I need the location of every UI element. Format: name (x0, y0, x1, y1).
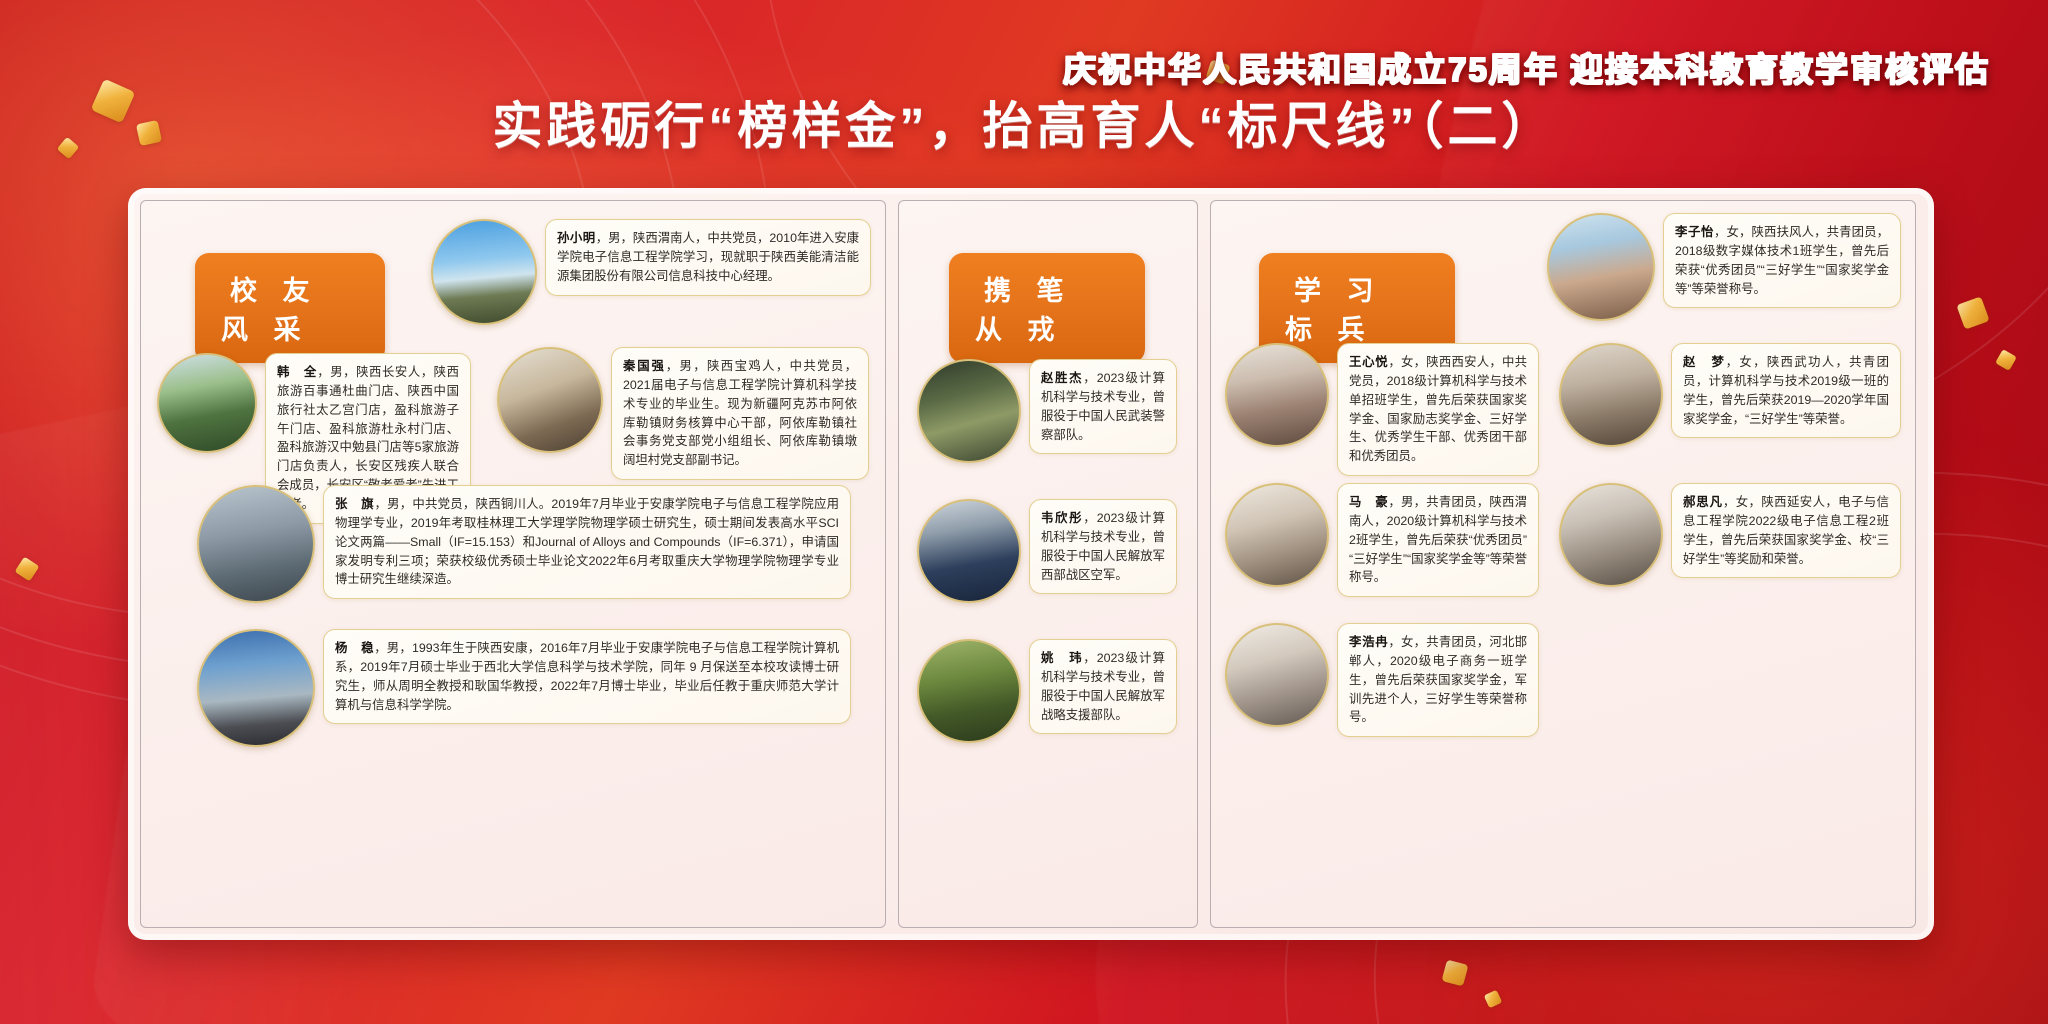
page-title-text: 实践砺行“榜样金”，抬高育人“标尺线”（二） (493, 86, 1556, 158)
card-sun-xiaoming[interactable]: 孙小明，男，陕西渭南人，中共党员，2010年进入安康学院电子信息工程学院学习，现… (431, 219, 871, 325)
bio-zhang-qi: 张 旗，男，中共党员，陕西铜川人。2019年7月毕业于安康学院电子与信息工程学院… (323, 485, 851, 599)
section-badge-alumni: 校 友 风 采 (195, 253, 385, 363)
photo-hao-sifan (1559, 483, 1663, 587)
desc-sun-xiaoming: ，男，陕西渭南人，中共党员，2010年进入安康学院电子信息工程学院学习，现就职于… (557, 231, 859, 283)
photo-zhao-meng (1559, 343, 1663, 447)
name-li-ziyi: 李子怡 (1675, 225, 1714, 239)
bio-wei-xintong: 韦欣彤，2023级计算机科学与技术专业，曾服役于中国人民解放军西部战区空军。 (1029, 499, 1177, 594)
name-yao-wei: 姚 玮 (1041, 651, 1083, 665)
card-yang-wen[interactable]: 杨 稳，男，1993年生于陕西安康，2016年7月毕业于安康学院电子与信息工程学… (197, 629, 857, 747)
name-wang-xinyue: 王心悦 (1349, 355, 1388, 369)
name-qin-guoqiang: 秦国强 (623, 359, 666, 373)
card-zhao-shengjie[interactable]: 赵胜杰，2023级计算机科学与技术专业，曾服役于中国人民武装警察部队。 (917, 359, 1181, 463)
bio-li-ziyi: 李子怡，女，陕西扶风人，共青团员，2018级数字媒体技术1班学生，曾先后荣获“优… (1663, 213, 1901, 308)
photo-ma-hao (1225, 483, 1329, 587)
gold-shard-5 (1956, 296, 1989, 329)
name-wei-xintong: 韦欣彤 (1041, 511, 1083, 525)
bio-hao-sifan: 郝思凡，女，陕西延安人，电子与信息工程学院2022级电子信息工程2班学生，曾先后… (1671, 483, 1901, 578)
card-li-haoran[interactable]: 李浩冉，女，共青团员，河北邯郸人，2020级电子商务一班学生，曾先后荣获国家奖学… (1225, 623, 1541, 737)
name-li-haoran: 李浩冉 (1349, 635, 1388, 649)
panel-alumni-excellence: 校 友 风 采 孙小明，男，陕西渭南人，中共党员，2010年进入安康学院电子信息… (140, 200, 886, 928)
gold-shard-7 (1442, 960, 1469, 987)
banner-text: 庆祝中华人民共和国成立75周年 迎接本科教育教学审核评估 (1063, 43, 1990, 91)
card-qin-guoqiang[interactable]: 秦国强，男，陕西宝鸡人，中共党员，2021届电子与信息工程学院计算机科学技术专业… (497, 347, 871, 480)
gold-shard-9 (15, 557, 40, 582)
photo-wang-xinyue (1225, 343, 1329, 447)
desc-zhang-qi: ，男，中共党员，陕西铜川人。2019年7月毕业于安康学院电子与信息工程学院应用物… (335, 497, 839, 586)
page-title: 实践砺行“榜样金”，抬高育人“标尺线”（二） (0, 86, 2048, 158)
photo-li-haoran (1225, 623, 1329, 727)
desc-wang-xinyue: ，女，陕西西安人，中共党员，2018级计算机科学与技术单招班学生，曾先后荣获国家… (1349, 355, 1527, 463)
photo-qin-guoqiang (497, 347, 603, 453)
bio-zhao-meng: 赵 梦，女，陕西武功人，共青团员，计算机科学与技术2019级一班的学生，曾先后荣… (1671, 343, 1901, 438)
name-zhao-shengjie: 赵胜杰 (1041, 371, 1083, 385)
photo-sun-xiaoming (431, 219, 537, 325)
photo-zhang-qi (197, 485, 315, 603)
gold-shard-6 (1995, 349, 2017, 371)
photo-li-ziyi (1547, 213, 1655, 321)
photo-yao-wei (917, 639, 1021, 743)
card-ma-hao[interactable]: 马 豪，男，共青团员，陕西渭南人，2020级计算机科学与技术2班学生，曾先后荣获… (1225, 483, 1541, 597)
card-zhang-qi[interactable]: 张 旗，男，中共党员，陕西铜川人。2019年7月毕业于安康学院电子与信息工程学院… (197, 485, 857, 603)
bio-sun-xiaoming: 孙小明，男，陕西渭南人，中共党员，2010年进入安康学院电子信息工程学院学习，现… (545, 219, 871, 296)
card-wang-xinyue[interactable]: 王心悦，女，陕西西安人，中共党员，2018级计算机科学与技术单招班学生，曾先后荣… (1225, 343, 1541, 476)
card-wei-xintong[interactable]: 韦欣彤，2023级计算机科学与技术专业，曾服役于中国人民解放军西部战区空军。 (917, 499, 1181, 603)
desc-qin-guoqiang: ，男，陕西宝鸡人，中共党员，2021届电子与信息工程学院计算机科学技术专业的毕业… (623, 359, 857, 467)
poster-canvas: 庆祝中华人民共和国成立75周年 迎接本科教育教学审核评估 实践砺行“榜样金”，抬… (0, 0, 2048, 1024)
bio-ma-hao: 马 豪，男，共青团员，陕西渭南人，2020级计算机科学与技术2班学生，曾先后荣获… (1337, 483, 1539, 597)
photo-wei-xintong (917, 499, 1021, 603)
bio-yang-wen: 杨 稳，男，1993年生于陕西安康，2016年7月毕业于安康学院电子与信息工程学… (323, 629, 851, 724)
bio-qin-guoqiang: 秦国强，男，陕西宝鸡人，中共党员，2021届电子与信息工程学院计算机科学技术专业… (611, 347, 869, 480)
name-sun-xiaoming: 孙小明 (557, 231, 596, 245)
card-hao-sifan[interactable]: 郝思凡，女，陕西延安人，电子与信息工程学院2022级电子信息工程2班学生，曾先后… (1559, 483, 1903, 587)
bio-yao-wei: 姚 玮，2023级计算机科学与技术专业，曾服役于中国人民解放军战略支援部队。 (1029, 639, 1177, 734)
name-zhang-qi: 张 旗 (335, 497, 374, 511)
bio-wang-xinyue: 王心悦，女，陕西西安人，中共党员，2018级计算机科学与技术单招班学生，曾先后荣… (1337, 343, 1539, 476)
panel-study-model: 学 习 标 兵 李子怡，女，陕西扶风人，共青团员，2018级数字媒体技术1班学生… (1210, 200, 1916, 928)
bio-li-haoran: 李浩冉，女，共青团员，河北邯郸人，2020级电子商务一班学生，曾先后荣获国家奖学… (1337, 623, 1539, 737)
card-li-ziyi[interactable]: 李子怡，女，陕西扶风人，共青团员，2018级数字媒体技术1班学生，曾先后荣获“优… (1547, 213, 1903, 321)
photo-han-quan (157, 353, 257, 453)
photo-yang-wen (197, 629, 315, 747)
desc-yang-wen: ，男，1993年生于陕西安康，2016年7月毕业于安康学院电子与信息工程学院计算… (335, 641, 839, 712)
bio-zhao-shengjie: 赵胜杰，2023级计算机科学与技术专业，曾服役于中国人民武装警察部队。 (1029, 359, 1177, 454)
name-ma-hao: 马 豪 (1349, 495, 1388, 509)
name-han-quan: 韩 全 (277, 365, 317, 379)
name-zhao-meng: 赵 梦 (1683, 355, 1726, 369)
card-zhao-meng[interactable]: 赵 梦，女，陕西武功人，共青团员，计算机科学与技术2019级一班的学生，曾先后荣… (1559, 343, 1903, 447)
content-board: 校 友 风 采 孙小明，男，陕西渭南人，中共党员，2010年进入安康学院电子信息… (128, 188, 1934, 940)
panel-join-the-army: 携 笔 从 戎 赵胜杰，2023级计算机科学与技术专业，曾服役于中国人民武装警察… (898, 200, 1198, 928)
name-hao-sifan: 郝思凡 (1683, 495, 1723, 509)
section-badge-army: 携 笔 从 戎 (949, 253, 1145, 363)
card-yao-wei[interactable]: 姚 玮，2023级计算机科学与技术专业，曾服役于中国人民解放军战略支援部队。 (917, 639, 1181, 743)
gold-shard-8 (1484, 990, 1503, 1009)
photo-zhao-shengjie (917, 359, 1021, 463)
name-yang-wen: 杨 稳 (335, 641, 374, 655)
